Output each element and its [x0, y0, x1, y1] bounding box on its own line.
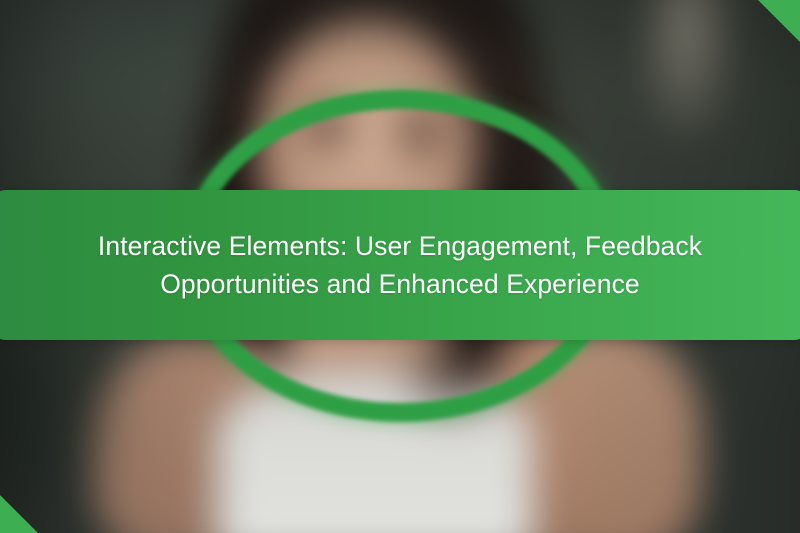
page-title: Interactive Elements: User Engagement, F… [60, 227, 740, 304]
green-corner-triangle-top-right [758, 0, 800, 42]
hero-banner-stage: Interactive Elements: User Engagement, F… [0, 0, 800, 533]
green-corner-triangle-bottom-left [0, 495, 38, 533]
title-banner: Interactive Elements: User Engagement, F… [0, 190, 800, 340]
